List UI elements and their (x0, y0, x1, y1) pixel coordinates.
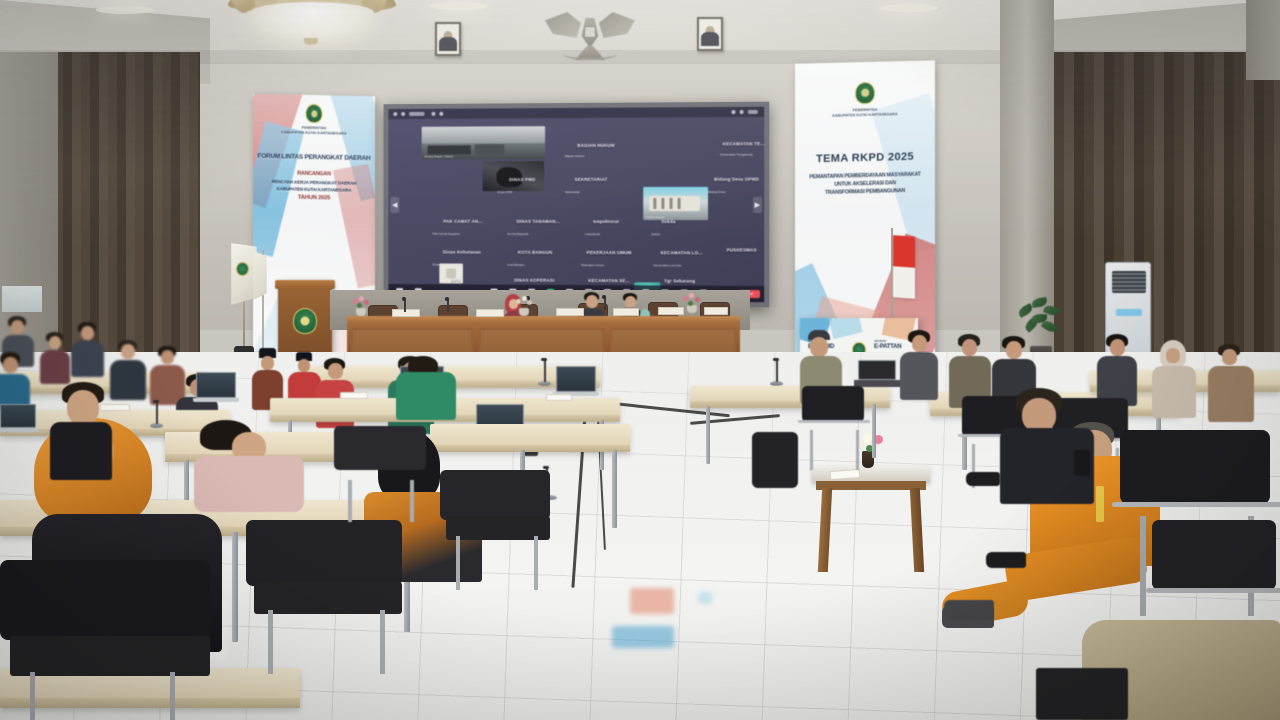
zoom-tile[interactable]: DINAS TANAMAN... Ibu Nurhasanah (504, 212, 572, 230)
zoom-tile[interactable]: Ruang Rapat - Kantor (422, 126, 545, 159)
name-placard (392, 309, 420, 317)
zoom-tile-name: KECAMATAN SE... (588, 278, 630, 283)
banner-app-label-right: E-PATTAN (874, 344, 901, 350)
name-card (546, 394, 572, 401)
zoom-tile[interactable]: PEKERJAAN UMUM Pekerjaan Umum (578, 243, 640, 261)
name-card (100, 404, 130, 411)
video-wall-display[interactable]: Ruang Rapat - Kantor BAGIAN HUKUM Bagian… (384, 102, 770, 308)
name-placard (476, 309, 504, 317)
flag-red-stripe (893, 235, 915, 268)
zoom-tile[interactable]: PUSKESMAS (717, 241, 764, 257)
desk-microphone (150, 398, 164, 428)
zoom-topbar (388, 107, 764, 119)
smartphone[interactable] (1074, 450, 1090, 476)
flag-emblem-icon (236, 262, 249, 276)
microphone-head-icon (602, 295, 606, 299)
bag (1036, 668, 1128, 720)
name-card (340, 392, 368, 399)
downlight (880, 4, 938, 12)
flower-arrangement (515, 296, 533, 316)
zoom-tile-name: KOTA BANGUN (518, 249, 552, 254)
portrait-body (701, 32, 719, 46)
gallery-prev-page-icon[interactable]: ◀ (390, 197, 399, 213)
chair[interactable] (246, 520, 416, 670)
curtain-right (1054, 52, 1280, 372)
desk-leg (872, 404, 876, 458)
floor-reflection (630, 588, 674, 614)
shoe (966, 472, 1000, 486)
side-table-leg (910, 488, 924, 572)
portrait-president (435, 22, 461, 56)
gallery-next-page-icon[interactable]: ▶ (753, 197, 762, 213)
chair[interactable] (1152, 520, 1280, 720)
ac-grille (1112, 271, 1146, 293)
chandelier-dome (250, 2, 374, 42)
zoom-tile-name: BAGIAN HUKUM (577, 142, 614, 147)
desk (430, 424, 630, 452)
zoom-tile[interactable]: Bidang Desa DPMD Bidang Desa (705, 170, 764, 188)
kutai-kartanegara-emblem-icon (293, 308, 317, 334)
garuda-pancasila-emblem (545, 8, 635, 62)
chair[interactable] (0, 560, 230, 720)
kutai-kartanegara-emblem-icon (855, 82, 875, 104)
flower-arrangement (352, 296, 370, 316)
zoom-tile-name: SEKRETARIAT (575, 176, 608, 181)
zoom-tile[interactable]: Inspektorat Inspektorat (582, 212, 630, 230)
desk-leg (232, 532, 238, 642)
desk-microphone (538, 358, 551, 386)
side-table (812, 466, 930, 576)
panel-microphone (604, 298, 606, 310)
zoom-tile-name: Bidang Desa DPMD (714, 176, 759, 181)
zoom-tile-name: Dinas Kehutanan (443, 249, 481, 254)
chandelier (228, 0, 396, 50)
shoe (944, 600, 994, 620)
zoom-gallery-view[interactable]: Ruang Rapat - Kantor BAGIAN HUKUM Bagian… (388, 107, 764, 302)
ac-badge (1116, 309, 1142, 316)
meeting-hall-photo: PEMERINTAH KABUPATEN KUTAI KARTANEGARA F… (0, 0, 1280, 720)
zoom-tile[interactable]: PAK CAMAT AN... Pak Camat Anggana (430, 212, 497, 230)
microphone-head-icon (402, 297, 406, 301)
garuda-wing-left (545, 12, 581, 38)
name-placard (704, 307, 728, 315)
zoom-tile[interactable]: KOTA BANGUN Kota Bangun (504, 243, 566, 261)
window (2, 286, 42, 312)
garuda-wing-right (599, 12, 635, 38)
zoom-tile-name: KECAMATAN TE... (723, 141, 764, 146)
zoom-tile-name: KECAMATAN LO... (661, 250, 703, 255)
garuda-ribbon (563, 48, 617, 60)
zoom-tile-name: Inspektorat (593, 219, 619, 224)
floor-reflection (698, 592, 712, 604)
zoom-tile-name: Sekda (661, 219, 675, 224)
flower-arrangement (683, 293, 701, 313)
zoom-tile-name: Ruang Rapat - Kantor (425, 154, 454, 158)
bag (752, 432, 798, 488)
podium (278, 280, 332, 355)
panel-microphone (447, 300, 449, 312)
zoom-tile[interactable]: KECAMATAN LO... Kecamatan Loa Kulu (650, 243, 713, 261)
zoom-tile[interactable]: Dinas Kehutanan Dinas Kehutanan (430, 243, 495, 261)
zoom-tile-name: BPS (451, 277, 460, 282)
zoom-tile[interactable]: Sekda Sekda (648, 212, 688, 230)
shoe (986, 552, 1026, 568)
panel-microphone (404, 300, 406, 312)
name-placard (658, 307, 684, 315)
zoom-tile-name: Tgr Sebarang (664, 278, 695, 283)
chair[interactable] (440, 470, 560, 590)
zoom-tile-name: DINAS TANAMAN... (516, 218, 559, 223)
floor-reflection (612, 626, 674, 648)
zoom-tile-name: DINAS PMD (509, 177, 535, 182)
banner-app-label-right-small: APLIKASI (874, 340, 886, 343)
name-placard (556, 308, 584, 316)
desk-leg (706, 406, 710, 464)
zoom-tile-name: PUSKESMAS (727, 247, 757, 252)
zoom-tile[interactable]: DINAS PMD Dinas PMD (494, 170, 550, 188)
name-placard (613, 308, 639, 316)
podium-top (275, 280, 335, 289)
chair[interactable] (334, 426, 434, 516)
portrait-body (439, 37, 457, 51)
microphone-head-icon (445, 297, 449, 301)
ceremonial-flag-2 (253, 252, 267, 300)
desk-leg (612, 450, 617, 528)
zoom-tile-name: PAK CAMAT AN... (443, 218, 482, 223)
zoom-tile-name: DINAS KOPERASI (514, 277, 554, 282)
garuda-shield (584, 26, 596, 38)
chair[interactable] (802, 386, 872, 466)
zoom-tile[interactable]: KECAMATAN TE... Kecamatan Tenggarong (717, 133, 764, 153)
lanyard (1096, 486, 1104, 522)
zoom-tile-name: PEKERJAAN UMUM (587, 250, 632, 255)
pillar-right-upper (1246, 0, 1280, 80)
head-table-top (347, 316, 740, 323)
flag-white-stripe (893, 266, 915, 299)
chandelier-finial (304, 38, 318, 45)
downlight (96, 6, 154, 14)
indonesia-flag (893, 235, 915, 299)
portrait-vice-president (697, 17, 723, 51)
zoom-tile[interactable]: SEKRETARIAT Sekretariat (562, 170, 620, 188)
side-table-leg (818, 488, 832, 572)
kutai-kartanegara-emblem-icon (306, 104, 323, 123)
zoom-tile[interactable]: BAGIAN HUKUM Bagian Hukum (562, 134, 630, 156)
desk-microphone (770, 356, 783, 386)
downlight (430, 2, 488, 10)
